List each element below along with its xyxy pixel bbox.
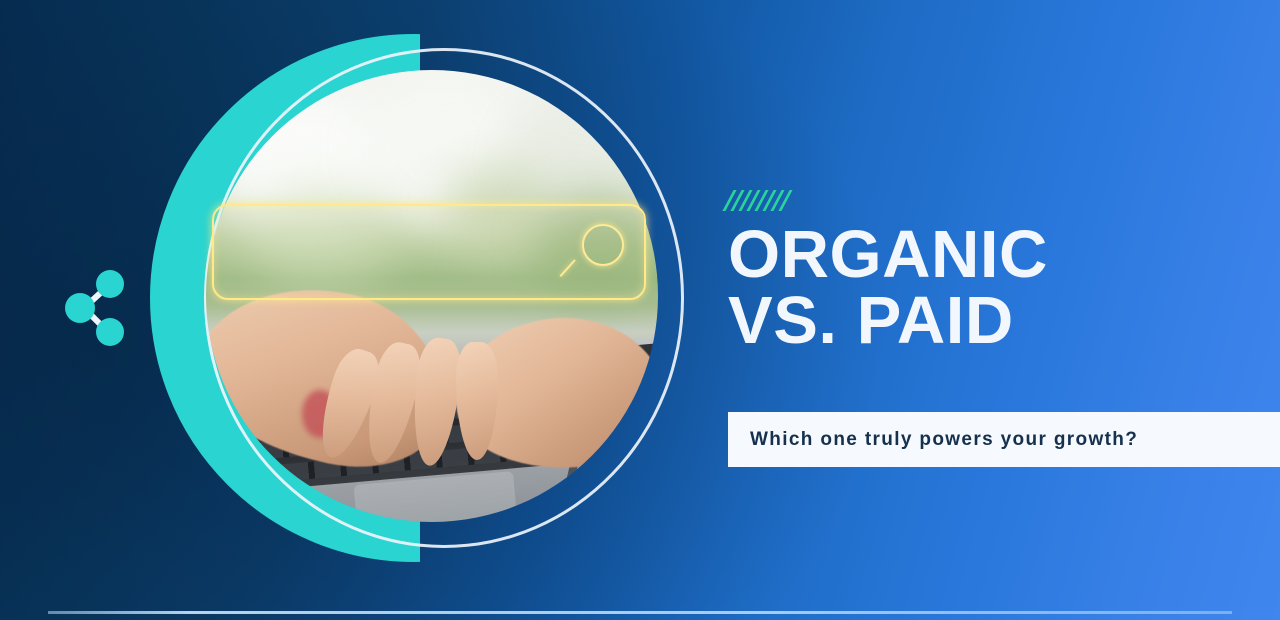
headline-line-1: ORGANIC [728,222,1280,288]
subtitle-text: Which one truly powers your growth? [750,429,1138,451]
bottom-divider [48,611,1232,614]
page-title: ORGANIC VS. PAID [728,222,1280,353]
banner: ORGANIC VS. PAID Which one truly powers … [0,0,1280,620]
search-input-outline[interactable] [212,204,646,300]
subtitle-bar: Which one truly powers your growth? [728,412,1280,467]
share-icon-glyph [56,262,128,354]
search-bar-overlay [206,198,658,306]
headline-block: ORGANIC VS. PAID [728,190,1280,353]
share-icon[interactable] [56,262,128,354]
headline-line-2: VS. PAID [728,288,1280,354]
slash-decoration [728,190,1280,212]
search-icon [582,224,624,266]
